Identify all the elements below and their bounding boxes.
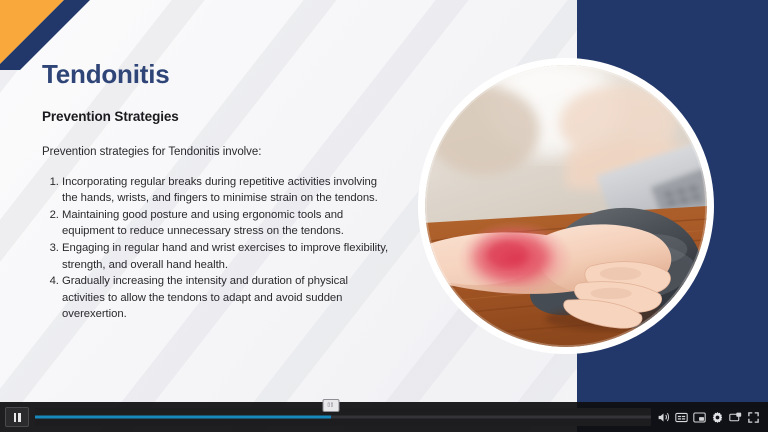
page-title: Tendonitis <box>42 60 392 89</box>
player-right-controls <box>657 411 763 424</box>
video-player: Tendonitis Prevention Strategies Prevent… <box>0 0 768 432</box>
settings-gear-icon[interactable] <box>711 411 724 424</box>
theater-mode-icon[interactable] <box>729 411 742 424</box>
picture-in-picture-icon[interactable] <box>693 411 706 424</box>
video-control-bar: ▯▯ <box>0 402 768 432</box>
captions-icon[interactable] <box>675 411 688 424</box>
circular-photo-frame <box>418 58 714 354</box>
thumb-grip-icon: ▯▯ <box>327 403 334 408</box>
fullscreen-icon[interactable] <box>747 411 760 424</box>
list-item: Maintaining good posture and using ergon… <box>62 207 392 240</box>
slide-text-column: Tendonitis Prevention Strategies Prevent… <box>42 60 392 323</box>
pause-icon-bar-right <box>18 413 21 422</box>
list-item: Incorporating regular breaks during repe… <box>62 174 392 207</box>
volume-icon[interactable] <box>657 411 670 424</box>
slide-intro-text: Prevention strategies for Tendonitis inv… <box>42 146 392 158</box>
progress-fill <box>35 416 331 419</box>
pause-icon-bar-left <box>14 413 17 422</box>
photo-hand-on-mouse <box>425 65 707 347</box>
prevention-strategies-list: Incorporating regular breaks during repe… <box>42 174 392 323</box>
progress-scrubber[interactable]: ▯▯ <box>35 408 651 426</box>
slide-subtitle: Prevention Strategies <box>42 109 392 124</box>
presentation-slide: Tendonitis Prevention Strategies Prevent… <box>0 0 768 432</box>
list-item: Gradually increasing the intensity and d… <box>62 273 392 323</box>
pause-button[interactable] <box>5 407 29 427</box>
list-item: Engaging in regular hand and wrist exerc… <box>62 240 392 273</box>
progress-thumb-handle[interactable]: ▯▯ <box>322 399 339 412</box>
